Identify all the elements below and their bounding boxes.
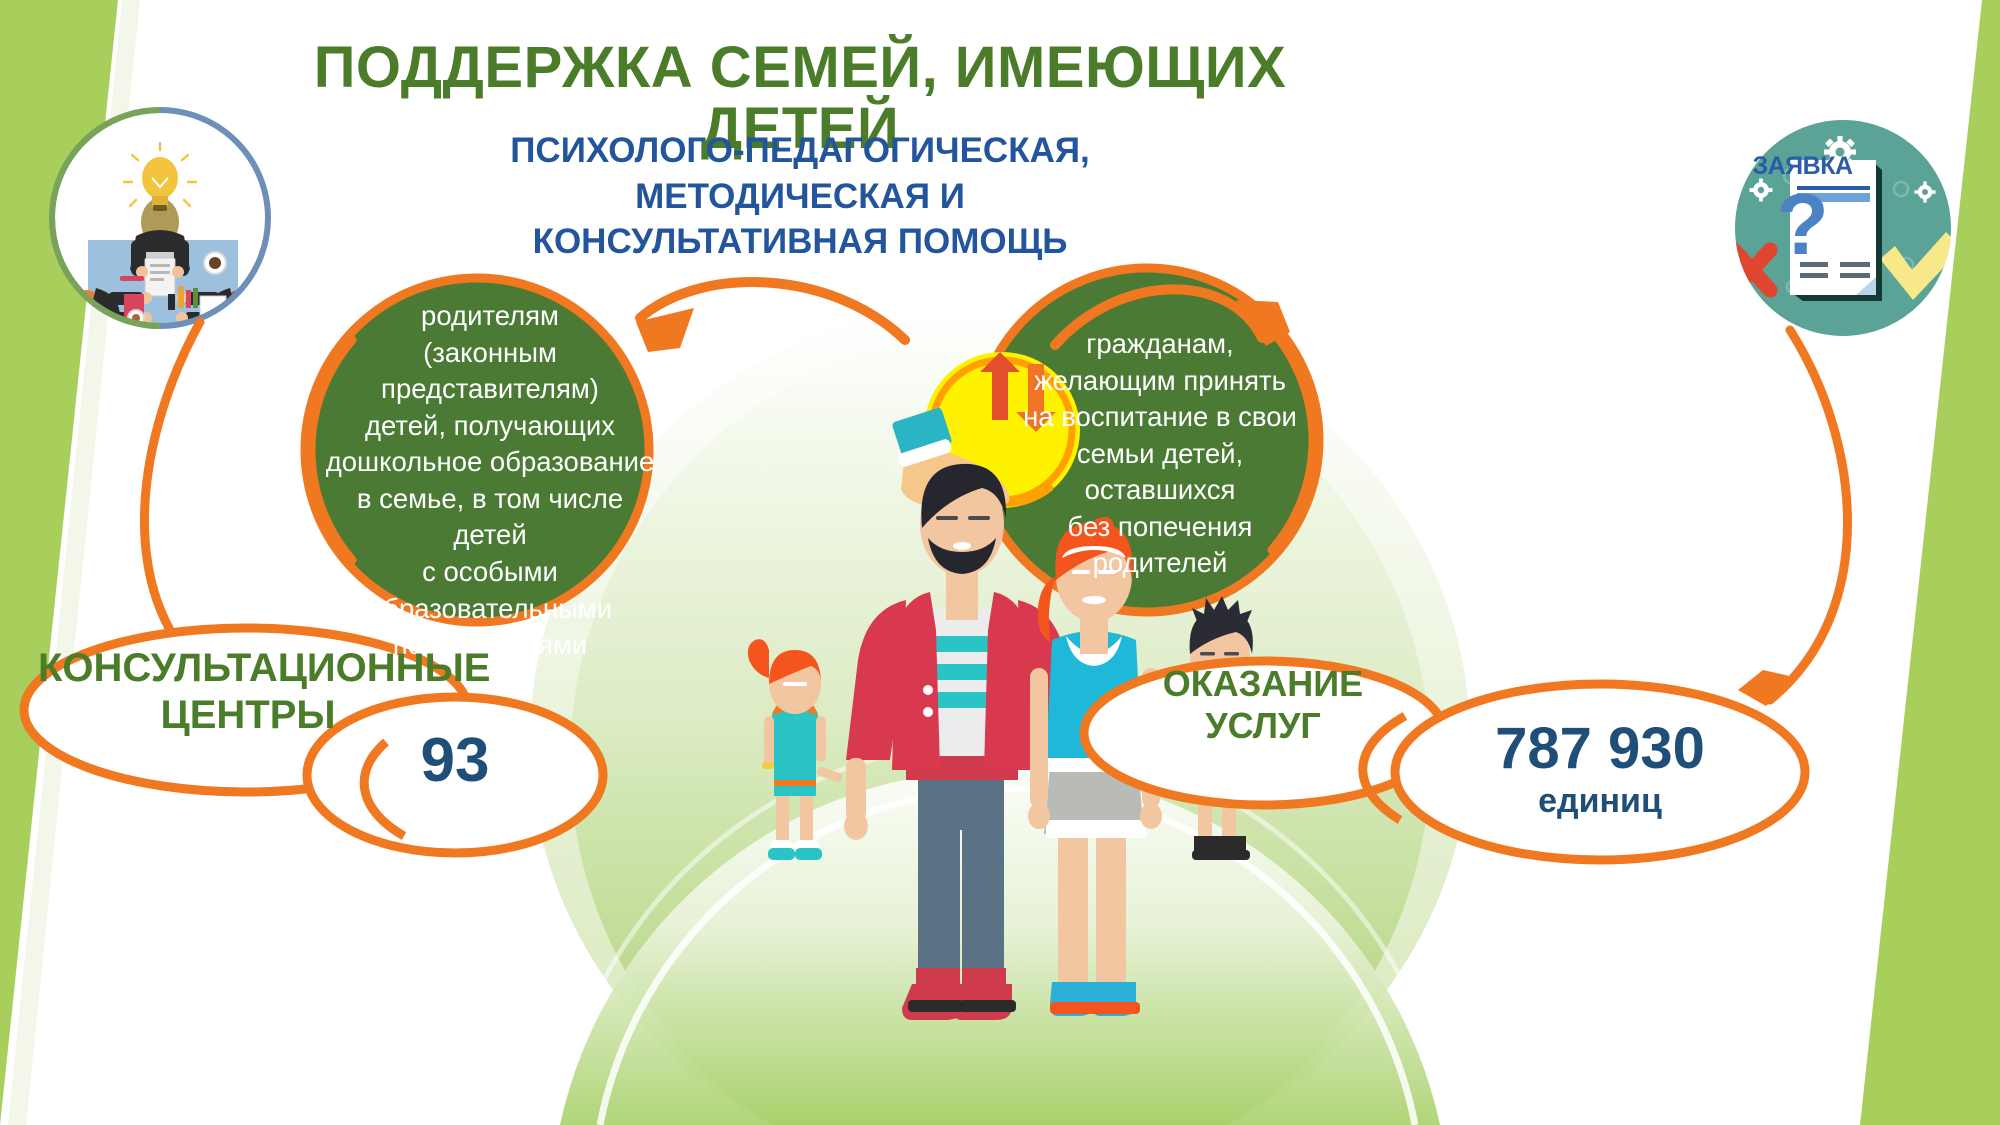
infographic-slide: ПОДДЕРЖКА СЕМЕЙ, ИМЕЮЩИХ ДЕТЕЙ ПСИХОЛОГО… (0, 0, 2000, 1125)
right-circle-text: гражданам, желающим принять на воспитани… (1000, 326, 1320, 582)
services-value: 787 930 (1420, 715, 1780, 782)
page-subtitle: ПСИХОЛОГО-ПЕДАГОГИЧЕСКАЯ, МЕТОДИЧЕСКАЯ И… (500, 128, 1100, 265)
left-circle-text: родителям (законным представителям) дете… (320, 298, 660, 664)
services-label: ОКАЗАНИЕ УСЛУГ (1118, 663, 1408, 748)
services-unit: единиц (1420, 782, 1780, 821)
question-mark-icon: ? (1735, 182, 1870, 268)
top-left-icon-circle (52, 110, 268, 332)
consultation-centers-value: 93 (340, 725, 570, 796)
